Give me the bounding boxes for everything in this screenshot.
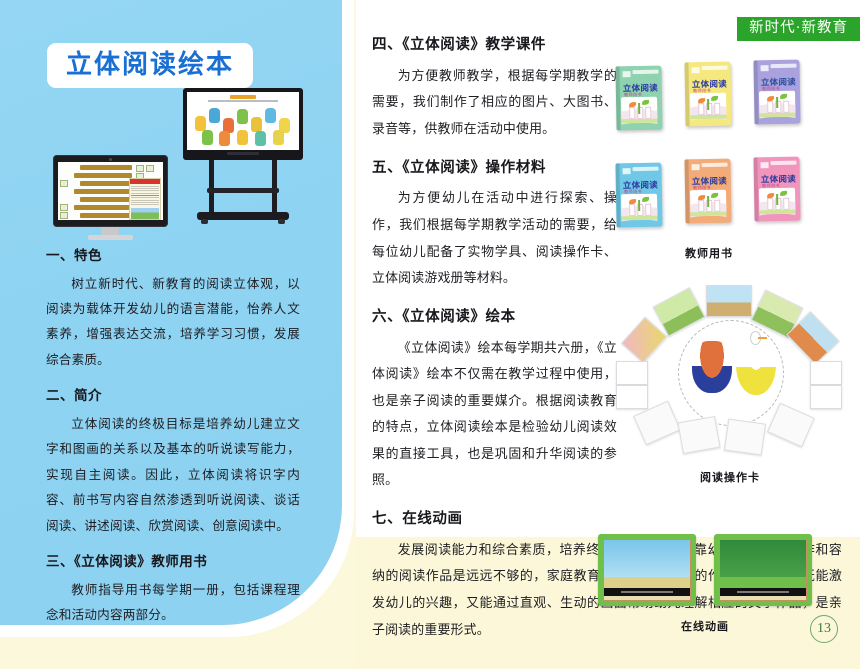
whiteboard-caster-wheel [278,219,285,224]
page-title: 立体阅读绘本 [47,43,253,88]
book-cover: 立体阅读 教师用书 [684,62,731,127]
interactive-whiteboard-illustration [183,88,303,224]
monitor-webcam-icon [109,158,112,161]
desktop-monitor-illustration [53,155,168,241]
animation-frame-willow-tree [598,534,696,606]
card-scene [652,287,705,337]
whiteboard-cartoon-characters [187,104,299,148]
section-body-materials: 为方便幼儿在活动中进行探索、操作，我们根据每学期教学活动的需要，给每位幼儿配备了… [372,185,617,291]
animation-frame-house-garden [714,534,812,606]
whiteboard-stand-post-left [209,160,214,214]
card-scene [706,285,752,317]
left-text-column: 一、特色 树立新时代、新教育的阅读立体观，以阅读为载体开发幼儿的语言潜能，怡养人… [46,247,300,642]
book-cover: 立体阅读 教师用书 [684,159,731,224]
card-word [616,385,648,409]
card-word [810,385,842,409]
caption-teacher-books: 教师用书 [616,245,802,261]
page-root: 新时代·新教育 立体阅读绘本 [0,0,860,669]
book-cover: 立体阅读 教师用书 [753,157,800,222]
section-heading-intro: 二、简介 [46,387,300,405]
book-cover: 立体阅读 教师用书 [753,60,800,125]
caption-online-animation: 在线动画 [598,618,812,634]
card-activity [767,403,815,448]
whiteboard-stand-foot [197,212,289,220]
stork-character-illustration [736,333,776,395]
book-cover: 立体阅读 教师用书 [615,66,662,131]
monitor-neck [101,227,119,235]
monitor-base [88,235,133,240]
card-activity [678,416,721,454]
whiteboard-stand-shelf [207,188,279,193]
card-activity [724,419,766,456]
book-cover: 立体阅读 教师用书 [615,163,662,228]
section-heading-courseware: 四、《立体阅读》教学课件 [372,36,842,55]
whiteboard-stand-post-right [272,160,277,214]
section-body-picture-books: 《立体阅读》绘本每学期共六册，《立体阅读》绘本不仅需在教学过程中使用，也是亲子阅… [372,335,617,494]
section-heading-online-animation: 七、在线动画 [372,510,842,529]
monitor-screen [58,162,163,220]
online-animation-screenshots [598,534,812,614]
card-scene [621,317,667,364]
section-heading-teacher-book: 三、《立体阅读》教师用书 [46,553,300,571]
fox-character-illustration [692,341,732,393]
teacher-book-covers: 立体阅读 教师用书 立体阅读 教师用书 立体阅读 教师用书 [616,157,802,255]
section-body-courseware: 为方便教师教学，根据每学期教学的需要，我们制作了相应的图片、大图书、录音等，供教… [372,63,617,143]
card-word [616,361,648,385]
courseware-book-covers: 立体阅读 教师用书 立体阅读 教师用书 立体阅读 教师用书 [616,60,802,158]
whiteboard-screen [187,92,299,150]
reading-operation-cards-collage [610,281,850,463]
page-number: 13 [810,615,838,643]
monitor-screen-side-panel [129,178,161,220]
section-body-teacher-book: 教师指导用书每学期一册，包括课程理念和活动内容两部分。 [46,578,300,629]
section-body-features: 树立新时代、新教育的阅读立体观，以阅读为载体开发幼儿的语言潜能，怡养人文素养，增… [46,272,300,374]
whiteboard-brand-strip [227,152,259,155]
card-word [810,361,842,385]
section-body-intro: 立体阅读的终极目标是培养幼儿建立文字和图画的关系以及基本的听说读写能力，实现自主… [46,412,300,539]
whiteboard-caster-wheel [201,219,208,224]
page-title-text: 立体阅读绘本 [66,50,234,79]
caption-reading-cards: 阅读操作卡 [610,469,850,485]
section-heading-features: 一、特色 [46,247,300,265]
